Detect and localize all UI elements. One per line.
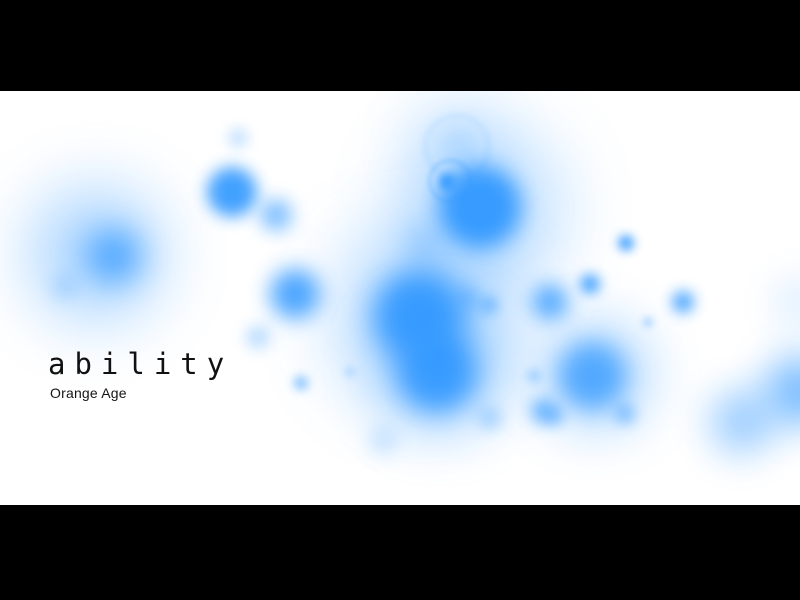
page-title: ability — [48, 349, 233, 379]
bokeh-circle — [643, 317, 653, 327]
bokeh-circle — [88, 230, 140, 282]
bokeh-circle — [247, 326, 269, 348]
bokeh-circle — [341, 235, 501, 395]
bokeh-circle — [374, 271, 464, 361]
bokeh-circle — [778, 281, 800, 325]
video-frame: ability Orange Age — [0, 91, 800, 505]
letterbox-bar-top — [0, 0, 800, 91]
bokeh-circle — [405, 225, 443, 263]
bokeh-circle — [229, 129, 247, 147]
bokeh-circle — [439, 166, 521, 248]
bokeh-circle — [399, 334, 475, 410]
bokeh-circle — [53, 276, 75, 298]
bokeh-circle — [544, 323, 648, 427]
bokeh-circle — [442, 128, 472, 158]
bokeh-circle — [618, 235, 634, 251]
media-stage: ability Orange Age — [0, 0, 800, 600]
bokeh-circle — [270, 269, 320, 319]
bokeh-circle — [480, 408, 500, 428]
bokeh-circle — [615, 404, 635, 424]
bokeh-ring — [428, 159, 472, 203]
bokeh-circle — [559, 343, 625, 409]
bokeh-circle — [672, 291, 694, 313]
bokeh-ring — [419, 334, 459, 374]
bokeh-circle — [408, 135, 556, 283]
letterbox-bar-bottom — [0, 505, 800, 600]
bokeh-circle — [260, 199, 292, 231]
bokeh-circle — [411, 101, 503, 193]
bokeh-circle — [30, 188, 162, 320]
bokeh-circle — [580, 274, 600, 294]
bokeh-circle — [439, 174, 455, 190]
bokeh-circle — [545, 407, 563, 425]
bokeh-circle — [294, 376, 308, 390]
bokeh-circle — [432, 347, 446, 361]
bokeh-circle — [384, 314, 496, 426]
title-block: ability Orange Age — [48, 349, 233, 402]
bokeh-circle — [710, 390, 774, 454]
bokeh-circle — [528, 370, 540, 382]
bokeh-circle — [371, 429, 395, 453]
bokeh-circle — [457, 287, 479, 309]
bokeh-circle — [480, 296, 498, 314]
bokeh-ring — [424, 114, 490, 180]
bokeh-circle — [766, 357, 800, 425]
bokeh-circle — [532, 284, 568, 320]
bokeh-circle — [207, 167, 257, 217]
bokeh-background — [0, 91, 800, 505]
bokeh-circle — [531, 399, 555, 423]
subtitle: Orange Age — [50, 385, 233, 402]
bokeh-circle — [345, 367, 355, 377]
